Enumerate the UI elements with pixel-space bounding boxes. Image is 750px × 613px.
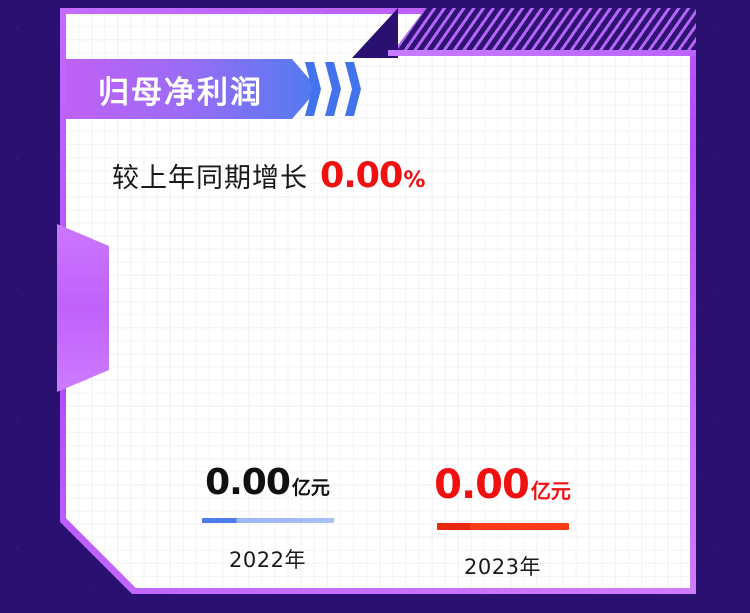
year-label-2023: 2023年 (464, 551, 541, 581)
growth-value: 0.00 (320, 156, 402, 196)
chevron-right-icon (325, 62, 341, 116)
diagonal-stripe-plate-decor (390, 8, 696, 56)
comparison-column-2023: 0.00 亿元 2023年 (385, 462, 620, 581)
growth-summary: 较上年同期增长 0.00 % (112, 156, 425, 196)
chevron-right-icon (345, 62, 361, 116)
growth-percent-symbol: % (403, 168, 425, 193)
infographic-poster: 归母净利润 较上年同期增长 0.00 % 0.00 亿元 2022年 0.00 … (0, 0, 750, 613)
value-number: 0.00 (205, 462, 290, 503)
diagonal-stripe-plate-underline (388, 50, 696, 56)
value-unit: 亿元 (531, 475, 571, 504)
value-group: 0.00 亿元 (434, 462, 571, 508)
value-number: 0.00 (434, 462, 529, 508)
page-title: 归母净利润 (98, 67, 263, 112)
chevron-right-icon (305, 62, 321, 116)
hexagon-tab-decor (57, 224, 109, 392)
year-comparison: 0.00 亿元 2022年 0.00 亿元 2023年 (150, 462, 620, 581)
year-label-2022: 2022年 (229, 544, 306, 574)
title-banner: 归母净利润 (66, 59, 318, 119)
bar-indicator-2022 (202, 518, 334, 523)
growth-label: 较上年同期增长 (112, 156, 308, 195)
value-group: 0.00 亿元 (205, 462, 330, 503)
comparison-column-2022: 0.00 亿元 2022年 (150, 462, 385, 581)
bar-indicator-2023 (437, 523, 569, 530)
double-chevron-right-icon (305, 62, 361, 116)
value-unit: 亿元 (292, 473, 330, 500)
